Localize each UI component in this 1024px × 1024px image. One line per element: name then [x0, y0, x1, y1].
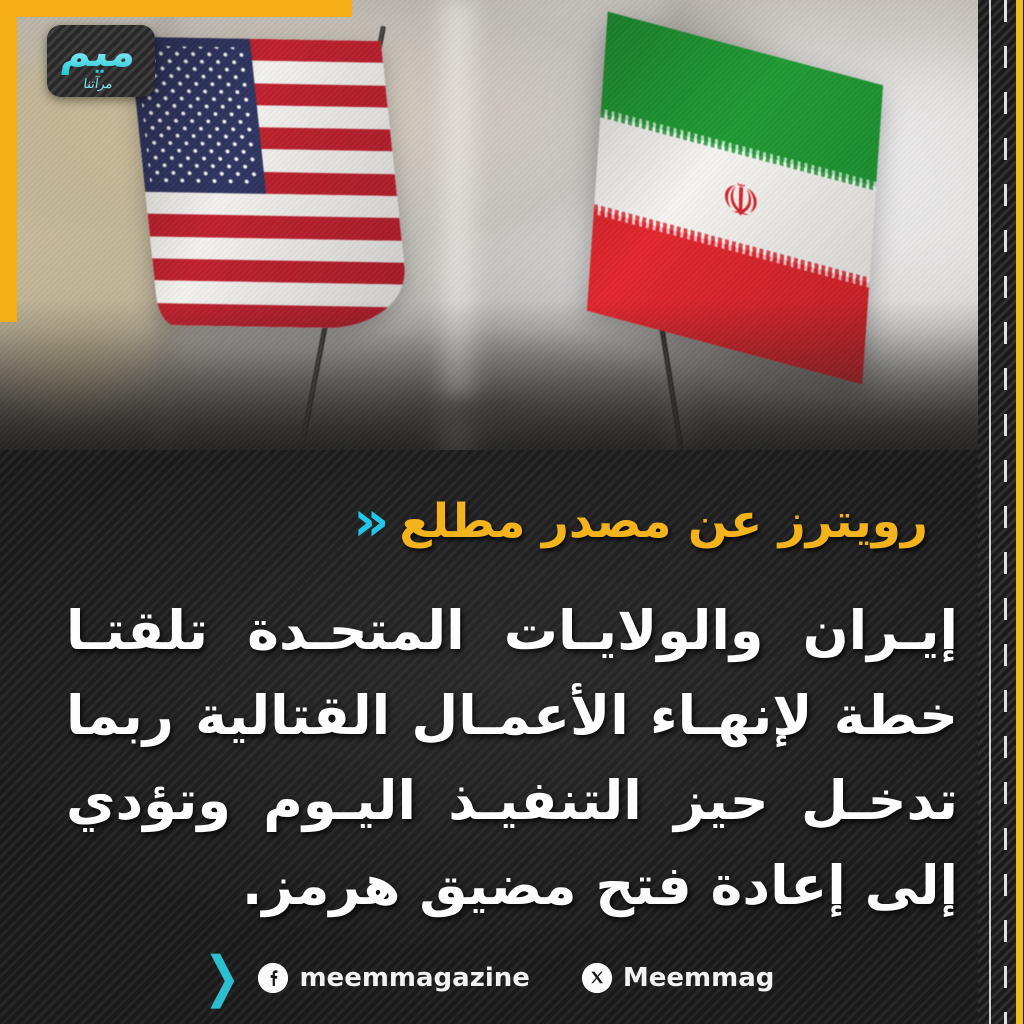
road-yellow-edge-line — [1016, 0, 1023, 1024]
headline-word: خطة — [834, 673, 958, 758]
double-chevron-icon: « — [353, 494, 383, 550]
road-solid-line — [989, 0, 991, 1024]
social-footer: ❯ meemmagazine Meemmag — [0, 958, 978, 998]
headline-word: وتؤدي — [66, 758, 231, 843]
headline-word: والولايـات — [504, 588, 764, 673]
headline-line-2: خطةلإنهـاءالأعمـالالقتاليةربما — [66, 673, 958, 758]
flag-stand-base — [380, 395, 560, 455]
news-card-poster: ☫ ميم مرآتنا رويترز عن مصدر مطلع « إيـرا… — [0, 0, 1024, 1024]
headline-word: تدخـل — [801, 758, 958, 843]
x-handle: Meemmag — [623, 963, 774, 993]
x-twitter-icon[interactable] — [582, 963, 612, 993]
flag-kufic-band-bottom — [594, 204, 870, 287]
brand-logo[interactable]: ميم مرآتنا — [47, 25, 155, 97]
headline-word: ربما — [66, 673, 174, 758]
flag-cloth-usa — [129, 37, 411, 330]
social-facebook[interactable]: meemmagazine — [258, 963, 529, 993]
brand-logo-tagline: مرآتنا — [47, 77, 150, 92]
wall-seam-right — [660, 0, 700, 470]
headline-word: المتحـدة — [247, 588, 464, 673]
headline-kicker-row: رويترز عن مصدر مطلع « — [353, 493, 928, 551]
social-x[interactable]: Meemmag — [582, 963, 774, 993]
flag-band-green — [601, 11, 884, 187]
flag-stripes — [129, 37, 411, 330]
flag-shading-usa — [129, 37, 411, 330]
headline-kicker-text: رويترز عن مصدر مطلع — [399, 493, 928, 551]
flag-pole-iran — [613, 35, 684, 451]
united-states-flag — [135, 18, 465, 448]
road-dashed-line — [1004, 0, 1007, 1024]
gold-frame-top — [0, 0, 352, 17]
headline-word: التنفيـذ — [448, 758, 641, 843]
headline-word: تلقتـا — [66, 588, 208, 673]
headline-word: اليـوم — [263, 758, 416, 843]
flag-shading-iran — [587, 11, 883, 384]
headline-line-4: إلى إعادة فتح مضيق هرمز. — [66, 843, 958, 928]
flag-pole-usa — [301, 26, 386, 439]
headline-word: القتالية — [195, 673, 390, 758]
iran-flag: ☫ — [535, 30, 895, 460]
flag-cloth-iran: ☫ — [587, 11, 883, 384]
facebook-handle: meemmagazine — [299, 963, 529, 993]
gold-frame-left — [0, 0, 17, 322]
headline-word: حيز — [674, 758, 769, 843]
headline-body: إيـرانوالولايـاتالمتحـدةتلقتـا خطةلإنهـا… — [66, 588, 958, 928]
road-decoration-strip — [978, 0, 1024, 1024]
headline-word: إيـران — [803, 588, 958, 673]
headline-word: لإنهـاء — [650, 673, 812, 758]
flag-band-red — [587, 209, 870, 385]
wall-seam-center — [430, 0, 485, 470]
iran-emblem-icon: ☫ — [717, 176, 764, 229]
flag-band-white — [594, 113, 876, 283]
photo-dark-fade — [0, 300, 1024, 470]
brand-logo-name: ميم — [47, 29, 154, 75]
headline-word: الأعمـال — [411, 673, 628, 758]
headline-line-1: إيـرانوالولايـاتالمتحـدةتلقتـا — [66, 588, 958, 673]
chevron-right-icon: ❯ — [204, 953, 241, 1003]
headline-line-3: تدخـلحيزالتنفيـذاليـوموتؤدي — [66, 758, 958, 843]
photo-background-blur-mid — [600, 0, 770, 230]
flag-kufic-band-top — [600, 108, 876, 191]
facebook-icon[interactable] — [258, 963, 288, 993]
